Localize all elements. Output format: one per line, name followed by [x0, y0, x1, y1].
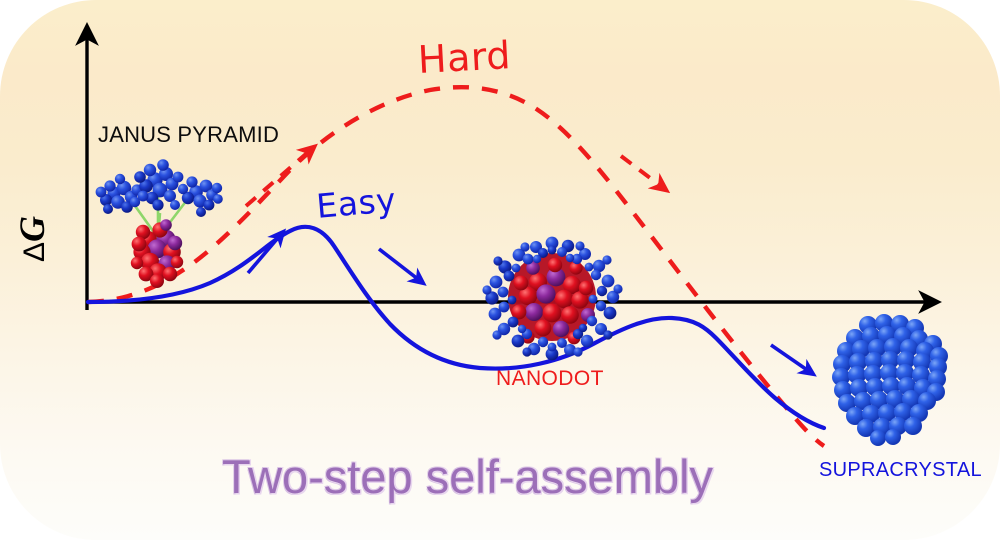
- y-axis-label: ΔG: [14, 216, 51, 262]
- janus-pyramid-structure: [96, 159, 223, 288]
- nanodot-label: NANODOT: [496, 368, 604, 389]
- hard-pathway-label: Hard: [417, 36, 512, 79]
- energy-landscape-figure: ΔG JANUS PYRAMID Hard Easy NANODOT SUPRA…: [0, 0, 1000, 540]
- blue-ascent-arrow: [248, 232, 283, 273]
- supracrystal-structure: [832, 314, 948, 446]
- delta-symbol: Δ: [18, 242, 51, 262]
- janus-pyramid-label: JANUS PYRAMID: [98, 124, 279, 146]
- supracrystal-spheres: [832, 314, 948, 446]
- easy-pathway-label: Easy: [315, 183, 397, 223]
- red-descent-arrow: [621, 156, 666, 190]
- polymer-lobe-center: [134, 159, 183, 210]
- blue-final-arrow: [771, 345, 813, 374]
- red-ascent-arrow: [246, 147, 314, 206]
- gibbs-g-symbol: G: [12, 216, 52, 242]
- polymer-lobe-right: [178, 176, 223, 217]
- janus-core: [131, 219, 183, 288]
- blue-descent-arrow: [379, 249, 423, 283]
- supracrystal-label: SUPRACRYSTAL: [819, 460, 982, 480]
- figure-title: Two-step self-assembly: [222, 453, 713, 500]
